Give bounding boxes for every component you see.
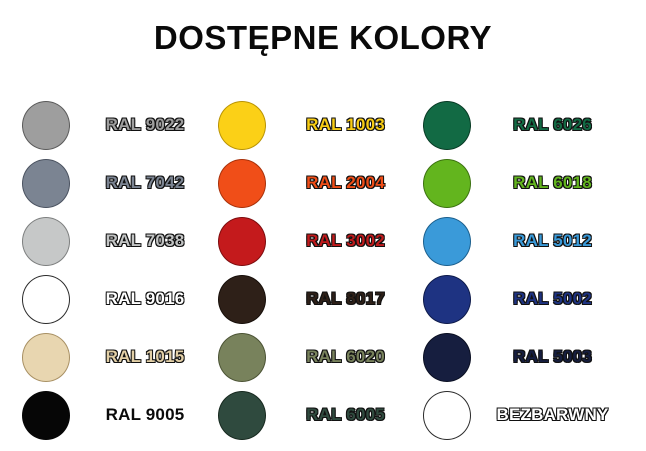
- swatch-row[interactable]: RAL 3002: [218, 212, 423, 270]
- color-swatch-circle[interactable]: [423, 101, 471, 150]
- swatch-row[interactable]: RAL 6018: [423, 154, 632, 212]
- swatch-row[interactable]: RAL 7042: [22, 154, 218, 212]
- color-swatch-label: RAL 1015: [70, 347, 218, 367]
- swatch-row[interactable]: BEZBARWNY: [423, 386, 632, 444]
- swatch-row[interactable]: RAL 7038: [22, 212, 218, 270]
- color-swatch-circle[interactable]: [22, 275, 70, 324]
- swatch-row[interactable]: RAL 9016: [22, 270, 218, 328]
- color-swatch-circle[interactable]: [423, 391, 471, 440]
- color-swatch-label: RAL 6020: [266, 347, 423, 367]
- color-swatch-circle[interactable]: [218, 275, 266, 324]
- color-swatch-label: RAL 1003: [266, 115, 423, 135]
- color-swatch-circle[interactable]: [423, 217, 471, 266]
- color-chart-sheet: DOSTĘPNE KOLORY RAL 9022RAL 1003RAL 6026…: [0, 0, 646, 451]
- swatch-row[interactable]: RAL 1003: [218, 96, 423, 154]
- color-swatch-label: RAL 5003: [471, 347, 632, 367]
- color-swatch-circle[interactable]: [22, 159, 70, 208]
- color-swatch-circle[interactable]: [218, 333, 266, 382]
- color-swatch-grid: RAL 9022RAL 1003RAL 6026RAL 7042RAL 2004…: [22, 96, 632, 444]
- color-swatch-label: RAL 2004: [266, 173, 423, 193]
- color-swatch-circle[interactable]: [22, 391, 70, 440]
- color-swatch-circle[interactable]: [22, 333, 70, 382]
- swatch-row[interactable]: RAL 9005: [22, 386, 218, 444]
- color-swatch-label: BEZBARWNY: [471, 405, 632, 425]
- color-swatch-circle[interactable]: [423, 159, 471, 208]
- swatch-row[interactable]: RAL 5003: [423, 328, 632, 386]
- color-swatch-circle[interactable]: [423, 275, 471, 324]
- color-swatch-label: RAL 5002: [471, 289, 632, 309]
- color-swatch-label: RAL 9022: [70, 115, 218, 135]
- swatch-row[interactable]: RAL 9022: [22, 96, 218, 154]
- color-swatch-label: RAL 5012: [471, 231, 632, 251]
- color-swatch-circle[interactable]: [22, 217, 70, 266]
- color-swatch-label: RAL 6018: [471, 173, 632, 193]
- color-swatch-label: RAL 6026: [471, 115, 632, 135]
- color-swatch-label: RAL 9016: [70, 289, 218, 309]
- color-swatch-label: RAL 7038: [70, 231, 218, 251]
- color-swatch-circle[interactable]: [22, 101, 70, 150]
- swatch-row[interactable]: RAL 6026: [423, 96, 632, 154]
- color-swatch-circle[interactable]: [218, 159, 266, 208]
- color-swatch-circle[interactable]: [218, 217, 266, 266]
- page-title: DOSTĘPNE KOLORY: [0, 19, 646, 57]
- color-swatch-label: RAL 6005: [266, 405, 423, 425]
- swatch-row[interactable]: RAL 6020: [218, 328, 423, 386]
- swatch-row[interactable]: RAL 2004: [218, 154, 423, 212]
- swatch-row[interactable]: RAL 5002: [423, 270, 632, 328]
- color-swatch-circle[interactable]: [218, 391, 266, 440]
- color-swatch-circle[interactable]: [423, 333, 471, 382]
- color-swatch-label: RAL 3002: [266, 231, 423, 251]
- color-swatch-label: RAL 9005: [70, 405, 218, 425]
- swatch-row[interactable]: RAL 8017: [218, 270, 423, 328]
- color-swatch-circle[interactable]: [218, 101, 266, 150]
- color-swatch-label: RAL 7042: [70, 173, 218, 193]
- swatch-row[interactable]: RAL 5012: [423, 212, 632, 270]
- swatch-row[interactable]: RAL 1015: [22, 328, 218, 386]
- color-swatch-label: RAL 8017: [266, 289, 423, 309]
- swatch-row[interactable]: RAL 6005: [218, 386, 423, 444]
